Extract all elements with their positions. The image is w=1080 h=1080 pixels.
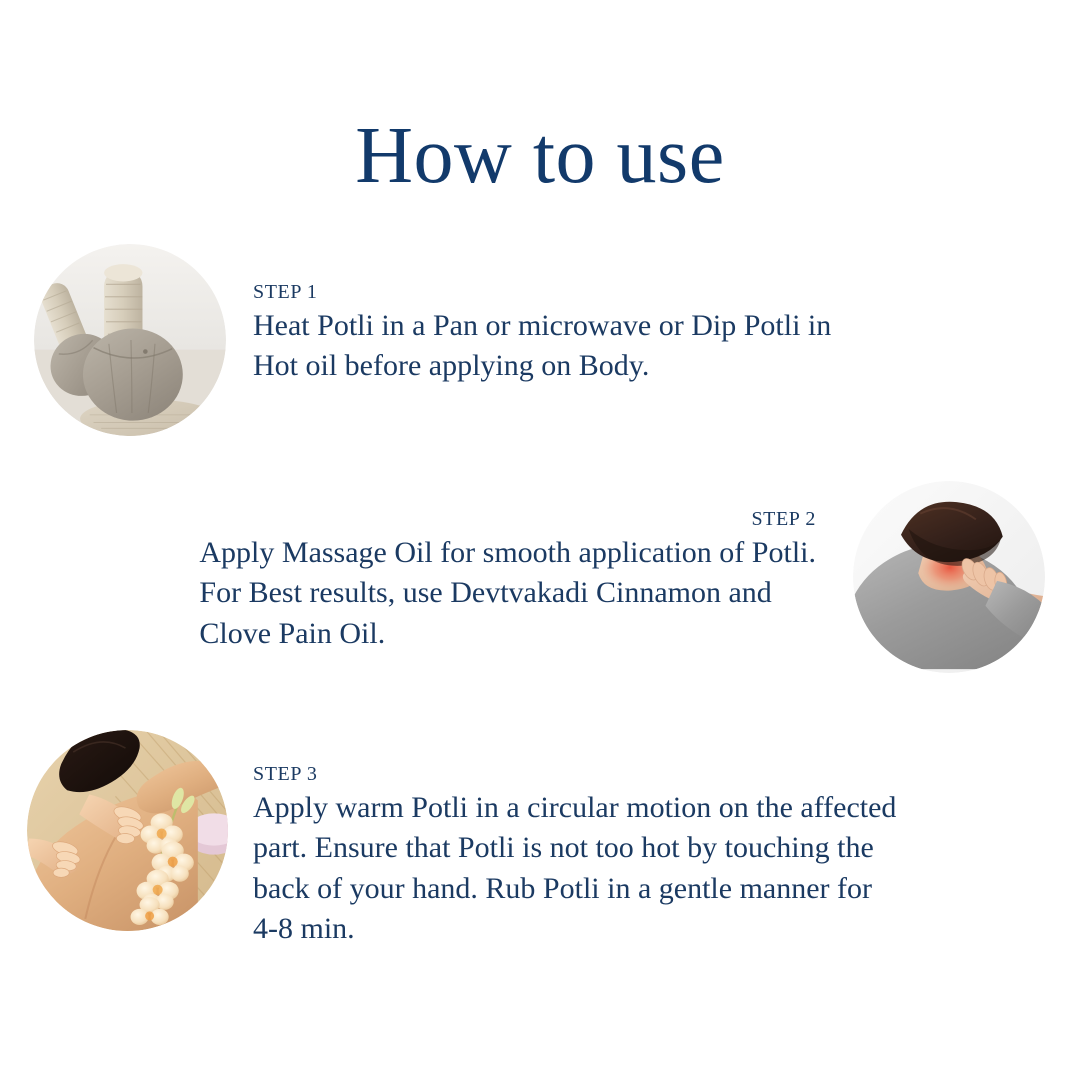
- back-massage-spa-photo: [27, 730, 228, 931]
- step-2: STEP 2 Apply Massage Oil for smooth appl…: [100, 508, 816, 654]
- step-2-body: Apply Massage Oil for smooth application…: [199, 533, 816, 654]
- how-to-use-infographic: How to use: [0, 0, 1080, 1080]
- step-3-body: Apply warm Potli in a circular motion on…: [253, 788, 1013, 949]
- step-2-label: STEP 2: [100, 508, 816, 531]
- step-1: STEP 1 Heat Potli in a Pan or microwave …: [253, 281, 943, 387]
- step-1-body: Heat Potli in a Pan or microwave or Dip …: [253, 306, 943, 387]
- step-1-label: STEP 1: [253, 281, 943, 304]
- neck-pain-photo: [853, 481, 1045, 673]
- step-3: STEP 3 Apply warm Potli in a circular mo…: [253, 763, 1013, 949]
- step-3-label: STEP 3: [253, 763, 1013, 786]
- page-title: How to use: [0, 116, 1080, 196]
- herbal-potli-bags-photo: [34, 244, 226, 436]
